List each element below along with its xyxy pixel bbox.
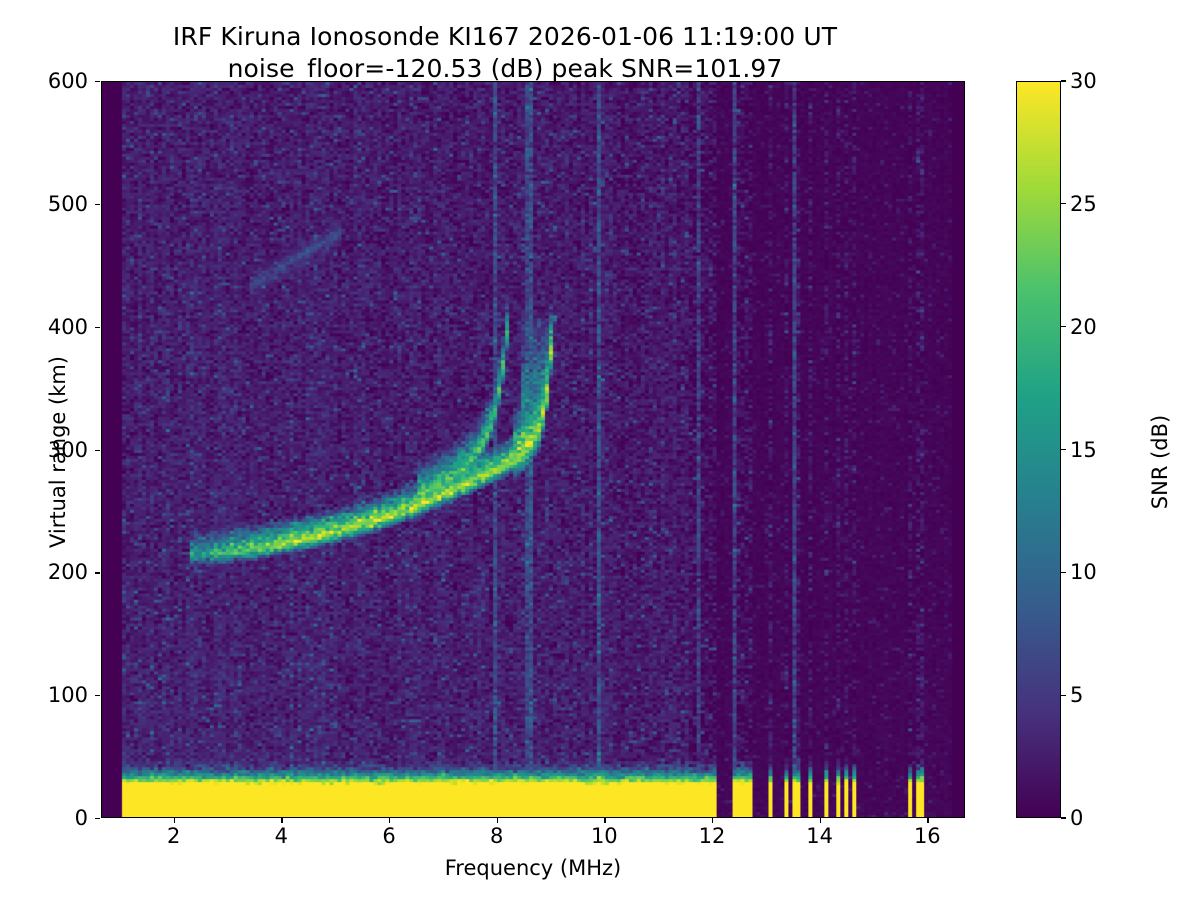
colorbar-tick-mark <box>1061 817 1066 818</box>
figure-title-line1: IRF Kiruna Ionosonde KI167 2026-01-06 11… <box>0 20 1010 53</box>
y-tick-mark <box>95 204 100 205</box>
colorbar-tick-label: 25 <box>1070 192 1097 216</box>
colorbar-tick-label: 15 <box>1070 438 1097 462</box>
colorbar-label: SNR (dB) <box>1148 342 1172 582</box>
ionogram-plot-area <box>101 81 965 818</box>
colorbar-tick-label: 10 <box>1070 560 1097 584</box>
x-tick-label: 14 <box>806 824 833 848</box>
y-tick-mark <box>95 327 100 328</box>
x-tick-label: 2 <box>167 824 180 848</box>
y-tick-label: 500 <box>28 192 88 216</box>
y-tick-mark <box>95 81 100 82</box>
ionogram-figure: IRF Kiruna Ionosonde KI167 2026-01-06 11… <box>0 0 1200 900</box>
y-tick-label: 0 <box>28 806 88 830</box>
x-tick-mark <box>281 818 282 823</box>
y-axis-label: Virtual range (km) <box>46 332 70 572</box>
y-tick-label: 100 <box>28 683 88 707</box>
y-tick-mark <box>95 695 100 696</box>
x-tick-mark <box>497 818 498 823</box>
colorbar-tick-mark <box>1061 695 1066 696</box>
x-tick-mark <box>389 818 390 823</box>
x-tick-mark <box>712 818 713 823</box>
colorbar-tick-label: 20 <box>1070 315 1097 339</box>
colorbar-tick-label: 30 <box>1070 69 1097 93</box>
colorbar-gradient <box>1017 82 1060 817</box>
colorbar <box>1016 81 1061 818</box>
x-tick-mark <box>820 818 821 823</box>
y-tick-label: 600 <box>28 69 88 93</box>
colorbar-tick-mark <box>1061 572 1066 573</box>
x-tick-label: 6 <box>382 824 395 848</box>
colorbar-tick-mark <box>1061 80 1066 81</box>
colorbar-tick-mark <box>1061 449 1066 450</box>
ionogram-heatmap-canvas <box>102 82 964 817</box>
x-tick-label: 10 <box>591 824 618 848</box>
colorbar-tick-mark <box>1061 203 1066 204</box>
y-tick-mark <box>95 572 100 573</box>
y-tick-mark <box>95 450 100 451</box>
x-tick-mark <box>927 818 928 823</box>
x-tick-label: 4 <box>275 824 288 848</box>
x-tick-label: 12 <box>699 824 726 848</box>
colorbar-tick-label: 0 <box>1070 806 1083 830</box>
x-tick-mark <box>604 818 605 823</box>
colorbar-tick-label: 5 <box>1070 683 1083 707</box>
x-tick-label: 8 <box>490 824 503 848</box>
colorbar-tick-mark <box>1061 326 1066 327</box>
y-tick-mark <box>95 818 100 819</box>
x-tick-label: 16 <box>914 824 941 848</box>
x-tick-mark <box>174 818 175 823</box>
x-axis-label: Frequency (MHz) <box>101 856 965 880</box>
